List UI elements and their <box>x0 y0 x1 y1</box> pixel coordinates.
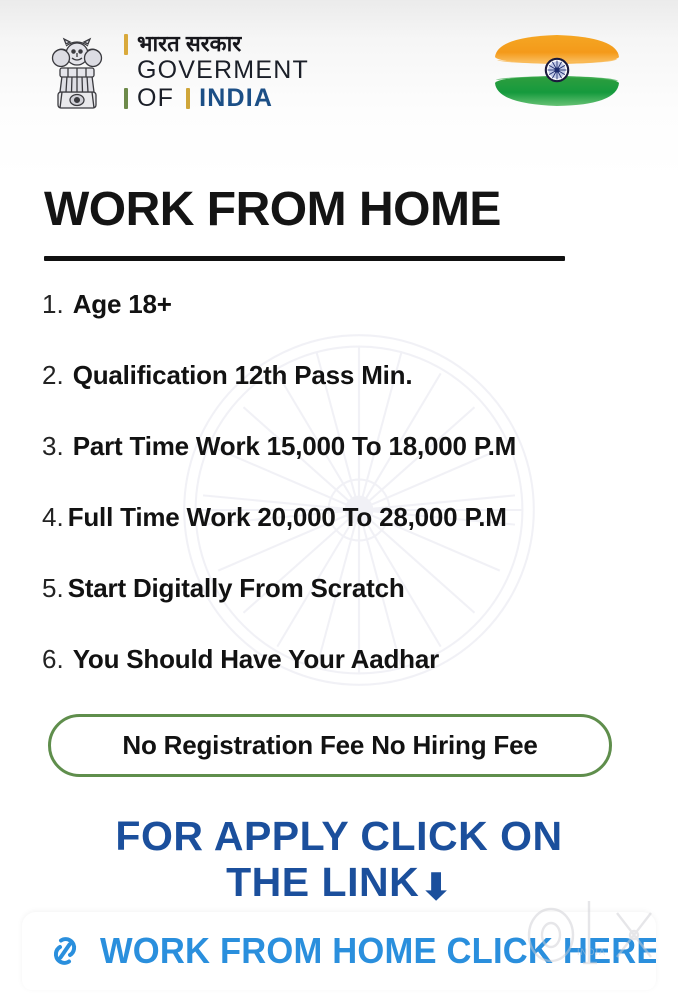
accent-bar-green <box>124 88 128 109</box>
title-underline <box>44 256 565 261</box>
goverment-label: GOVERMENT <box>137 58 309 83</box>
logo-text-block: भारत सरकार GOVERMENT OF INDIA <box>124 33 309 111</box>
list-item-number: 6. <box>42 644 64 675</box>
arrow-down-icon: ⬇ <box>420 869 452 905</box>
cta-line-2-wrap: THE LINK⬇ <box>0 860 678 906</box>
list-item-number: 1. <box>42 289 64 320</box>
title-block: WORK FROM HOME <box>44 186 644 261</box>
government-header: भारत सरकार GOVERMENT OF INDIA <box>0 0 678 146</box>
india-label: INDIA <box>199 86 273 111</box>
list-item-label: Age 18+ <box>73 289 172 320</box>
list-item-label: Start Digitally From Scratch <box>68 573 405 604</box>
list-item: 1. Age 18+ <box>42 289 657 360</box>
cta-line-2: THE LINK <box>226 859 419 905</box>
india-tricolor-flag <box>487 27 627 113</box>
cta-headline: FOR APPLY CLICK ON THE LINK⬇ <box>0 814 678 906</box>
work-from-home-flyer: भारत सरकार GOVERMENT OF INDIA <box>0 0 678 999</box>
cta-line-1: FOR APPLY CLICK ON <box>0 814 678 860</box>
work-from-home-link-button[interactable]: WORK FROM HOME CLICK HERE <box>22 912 656 990</box>
list-item-number: 2. <box>42 360 64 391</box>
government-of-india-logo: भारत सरकार GOVERMENT OF INDIA <box>46 28 309 116</box>
ashoka-lion-capital-emblem <box>46 28 108 116</box>
accent-bar-gold <box>186 88 190 109</box>
list-item-label: Full Time Work 20,000 To 28,000 P.M <box>68 502 507 533</box>
hindi-title: भारत सरकार <box>137 33 241 55</box>
list-item-number: 3. <box>42 431 64 462</box>
no-fee-label: No Registration Fee No Hiring Fee <box>122 730 537 761</box>
chain-link-icon[interactable] <box>42 928 88 974</box>
accent-bar-spacer <box>124 60 128 82</box>
list-item-label: Part Time Work 15,000 To 18,000 P.M <box>73 431 516 462</box>
page-title: WORK FROM HOME <box>44 186 644 234</box>
hindi-title-line: भारत सरकार <box>124 33 309 55</box>
list-item: 6. You Should Have Your Aadhar <box>42 644 657 715</box>
goverment-line: GOVERMENT <box>124 58 309 83</box>
list-item-number: 5. <box>42 573 64 604</box>
of-india-line: OF INDIA <box>124 86 309 111</box>
list-item: 2. Qualification 12th Pass Min. <box>42 360 657 431</box>
link-bar-label[interactable]: WORK FROM HOME CLICK HERE <box>100 930 656 972</box>
list-item: 5. Start Digitally From Scratch <box>42 573 657 644</box>
list-item: 4. Full Time Work 20,000 To 28,000 P.M <box>42 502 657 573</box>
no-fee-badge: No Registration Fee No Hiring Fee <box>48 714 612 777</box>
list-item-label: You Should Have Your Aadhar <box>73 644 439 675</box>
list-item: 3. Part Time Work 15,000 To 18,000 P.M <box>42 431 657 502</box>
list-item-label: Qualification 12th Pass Min. <box>73 360 413 391</box>
of-label: OF <box>137 86 174 111</box>
benefits-list: 1. Age 18+ 2. Qualification 12th Pass Mi… <box>42 289 657 715</box>
list-item-number: 4. <box>42 502 64 533</box>
accent-bar-saffron <box>124 34 128 55</box>
